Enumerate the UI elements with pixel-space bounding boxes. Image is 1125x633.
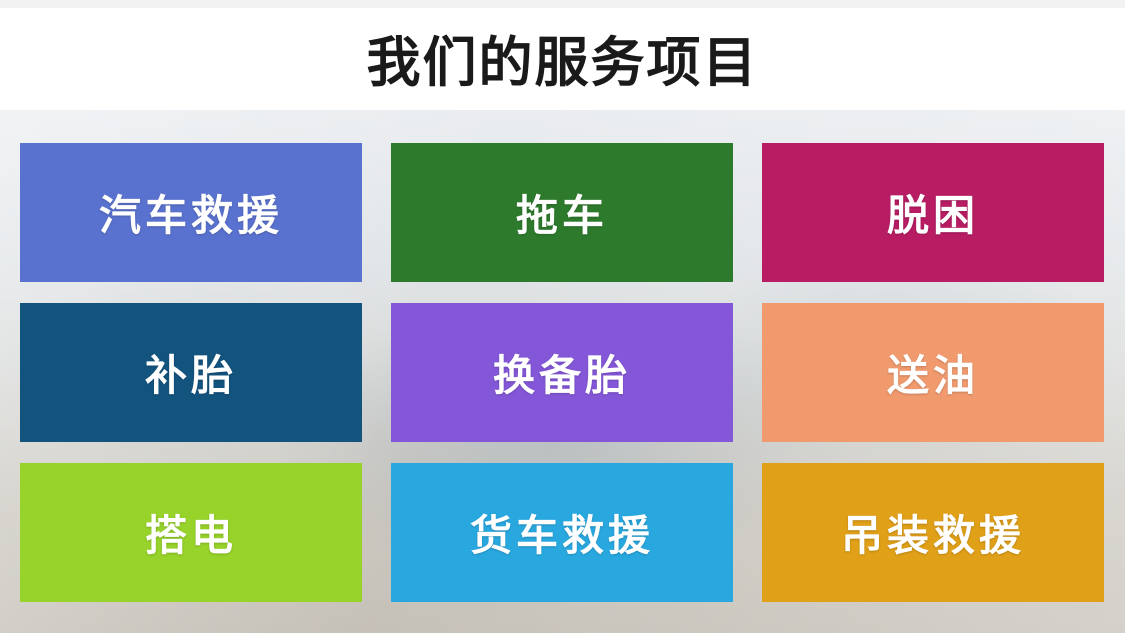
service-tile-label: 脱困 <box>887 182 979 243</box>
service-tile-label: 补胎 <box>145 342 237 403</box>
service-tile-label: 送油 <box>887 342 979 403</box>
page-title: 我们的服务项目 <box>0 18 1125 97</box>
service-tile-6[interactable]: 搭电 <box>20 463 362 602</box>
service-tile-label: 汽车救援 <box>99 182 283 243</box>
service-tile-2[interactable]: 脱困 <box>762 143 1104 282</box>
service-tile-label: 吊装救援 <box>841 502 1025 563</box>
service-tile-label: 搭电 <box>145 502 237 563</box>
service-tile-7[interactable]: 货车救援 <box>391 463 733 602</box>
service-tile-5[interactable]: 送油 <box>762 303 1104 442</box>
service-tile-3[interactable]: 补胎 <box>20 303 362 442</box>
service-tile-8[interactable]: 吊装救援 <box>762 463 1104 602</box>
service-tile-label: 换备胎 <box>493 342 631 403</box>
service-tile-label: 货车救援 <box>470 502 654 563</box>
top-strip <box>0 0 1125 8</box>
service-tile-4[interactable]: 换备胎 <box>391 303 733 442</box>
service-poster: 我们的服务项目 汽车救援 拖车 脱困 补胎 换备胎 送油 搭电 货车救援 吊装救… <box>0 0 1125 633</box>
service-tile-label: 拖车 <box>516 182 608 243</box>
service-tile-0[interactable]: 汽车救援 <box>20 143 362 282</box>
service-grid: 汽车救援 拖车 脱困 补胎 换备胎 送油 搭电 货车救援 吊装救援 <box>20 143 1105 602</box>
service-tile-1[interactable]: 拖车 <box>391 143 733 282</box>
